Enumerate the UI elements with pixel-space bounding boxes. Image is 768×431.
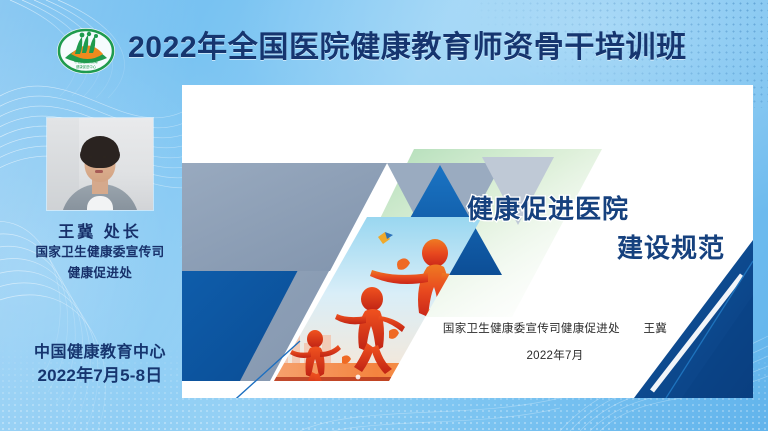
health-education-center-logo-icon: 中国健康教育 健康促进中心 (55, 24, 117, 76)
header-bar: 中国健康教育 健康促进中心 2022年全国医院健康教育师资骨干培训班 (0, 0, 768, 86)
event-date-range: 2022年7月5-8日 (0, 361, 200, 386)
speaker-organization-line2: 健康促进处 (0, 262, 200, 281)
slide-title-line2: 建设规范 (467, 229, 733, 268)
speaker-mouth (95, 170, 103, 173)
host-organization: 中国健康教育中心 (0, 338, 200, 362)
slide-subtitle-date: 2022年7月 (390, 347, 720, 363)
presentation-slide[interactable]: 健康促进医院 建设规范 国家卫生健康委宣传司健康促进处 王冀 2022年7月 (182, 85, 753, 398)
speaker-hair-side (80, 142, 120, 168)
speaker-eye-right (102, 156, 107, 158)
svg-text:健康促进中心: 健康促进中心 (76, 64, 97, 69)
video-player-stage: 中国健康教育 健康促进中心 2022年全国医院健康教育师资骨干培训班 王冀 处长… (0, 0, 768, 431)
speaker-organization-line1: 国家卫生健康委宣传司 (0, 243, 200, 262)
slide-subtitle-author: 国家卫生健康委宣传司健康促进处 王冀 (390, 320, 720, 336)
svg-text:中国健康教育: 中国健康教育 (74, 58, 98, 64)
speaker-camera-feed[interactable] (47, 118, 153, 210)
speaker-eye-left (88, 156, 93, 158)
slide-title-line1: 健康促进医院 (467, 190, 733, 229)
page-title: 2022年全国医院健康教育师资骨干培训班 (128, 27, 687, 69)
slide-title: 健康促进医院 建设规范 (467, 190, 733, 268)
speaker-name: 王冀 处长 (0, 218, 200, 242)
